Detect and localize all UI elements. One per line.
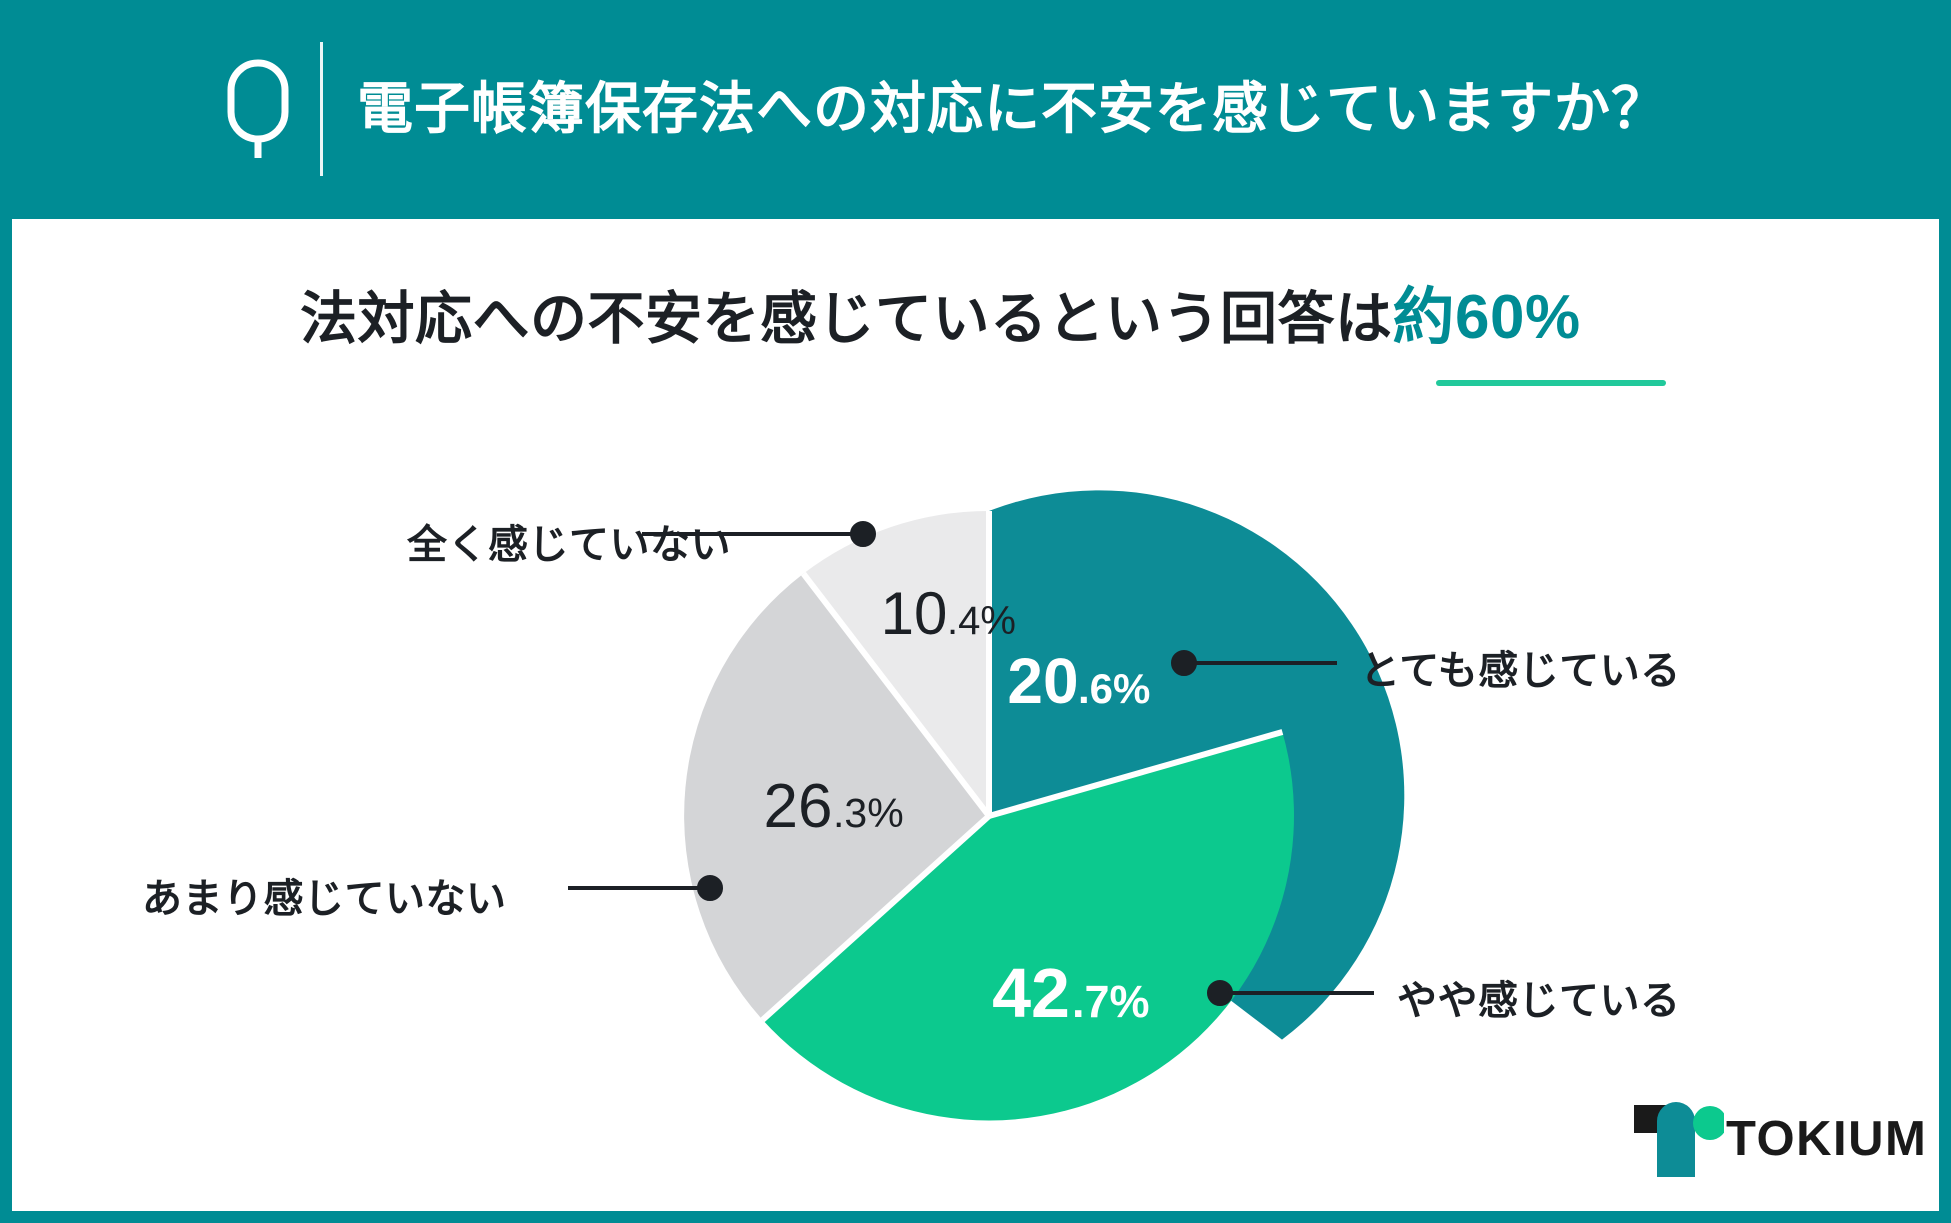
pie-slice-little	[684, 574, 989, 1020]
subtitle-prefix: 法対応への不安を感じているという回答は	[300, 287, 1393, 351]
question-mark-icon	[222, 58, 294, 162]
pie-separators	[763, 511, 1283, 1020]
pie-label-very-frac: .6%	[1078, 665, 1150, 712]
header-bar: 電子帳簿保存法への対応に不安を感じていますか？	[0, 0, 1951, 219]
pie-slice-none	[803, 511, 989, 816]
pie-legend-label-very: とても感じている	[1360, 638, 1681, 696]
header-divider	[320, 42, 323, 176]
pie-label-some-main: 42	[992, 954, 1070, 1032]
page-subtitle: 法対応への不安を感じているという回答は約60%	[300, 282, 1581, 353]
infographic-canvas: 電子帳簿保存法への対応に不安を感じていますか？ 法対応への不安を感じているという…	[0, 0, 1951, 1223]
pie-value-labels: 20 .6% 42 .7% 26 .3% 10 .4%	[764, 580, 1151, 1032]
pie-label-some-frac: .7%	[1072, 976, 1150, 1027]
subtitle-highlight: 約60%	[1393, 283, 1581, 352]
pie-slice-some	[763, 732, 1294, 1120]
header-title: 電子帳簿保存法への対応に不安を感じていますか？	[357, 50, 1668, 168]
pie-label-little-main: 26	[764, 772, 833, 841]
pie-label-very-main: 20	[1007, 645, 1078, 717]
pie-label-none-frac: .4%	[947, 599, 1016, 643]
pie-legend-label-none: 全く感じていない	[407, 512, 731, 570]
tokium-logo-text: TOKIUM	[1726, 1111, 1927, 1167]
leader-lines	[568, 523, 1374, 1004]
pie-legend-label-some: やや感じている	[1397, 968, 1681, 1026]
tokium-logo-mark	[1634, 1097, 1724, 1179]
subtitle-underline	[1436, 380, 1666, 386]
pie-slice-very	[989, 490, 1404, 1039]
pie-legend-label-little: あまり感じていない	[142, 866, 507, 924]
pie-label-none-main: 10	[881, 580, 948, 647]
tokium-logo: TOKIUM	[1634, 1097, 1919, 1187]
pie-label-little-frac: .3%	[833, 790, 904, 836]
